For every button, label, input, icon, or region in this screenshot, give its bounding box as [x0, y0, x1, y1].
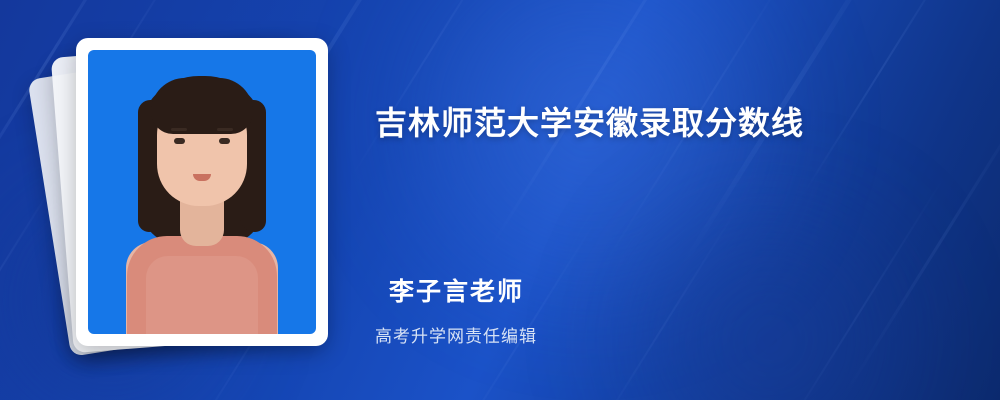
photo-card-front [76, 38, 328, 346]
banner-text-block: 吉林师范大学安徽录取分数线 李子言老师 高考升学网责任编辑 [375, 0, 975, 400]
author-name: 李子言老师 [389, 272, 524, 308]
article-banner: 吉林师范大学安徽录取分数线 李子言老师 高考升学网责任编辑 [0, 0, 1000, 400]
avatar [88, 50, 316, 334]
page-title: 吉林师范大学安徽录取分数线 [375, 98, 804, 144]
author-role: 高考升学网责任编辑 [375, 322, 537, 347]
photo-card-stack [48, 38, 348, 368]
